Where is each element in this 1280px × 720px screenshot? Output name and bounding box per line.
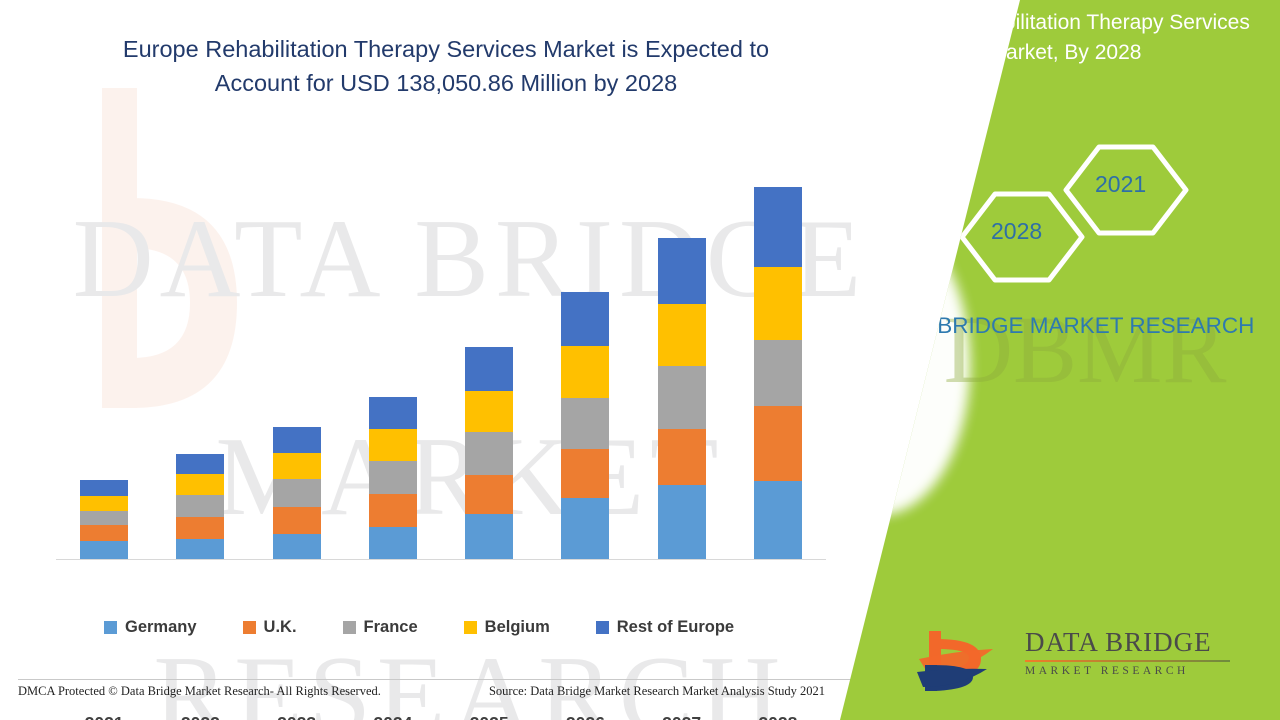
logo-title: DATA BRIDGE — [1025, 627, 1230, 658]
bar-segment-rest-of-europe — [754, 187, 802, 267]
bar-segment-france — [658, 366, 706, 429]
hexagon-2028-label: 2028 — [991, 218, 1042, 245]
bar-column-2023 — [249, 150, 345, 559]
bar-segment-rest-of-europe — [465, 347, 513, 391]
stacked-bar — [176, 454, 224, 559]
bar-column-2028 — [730, 150, 826, 559]
bar-segment-germany — [369, 527, 417, 559]
x-axis-label-2023: 2023 — [249, 713, 345, 720]
footer: DMCA Protected © Data Bridge Market Rese… — [18, 684, 863, 699]
stacked-bar — [465, 347, 513, 559]
legend-swatch-icon — [596, 621, 609, 634]
infographic-canvas: DATA BRIDGE MARKET RESEARCH Europe Rehab… — [0, 0, 1280, 720]
bar-segment-rest-of-europe — [176, 454, 224, 474]
bar-column-2025 — [441, 150, 537, 559]
x-axis-label-2027: 2027 — [634, 713, 730, 720]
bar-segment-belgium — [561, 346, 609, 398]
bar-segment-u-k- — [754, 406, 802, 481]
legend-swatch-icon — [343, 621, 356, 634]
bar-segment-u-k- — [465, 475, 513, 514]
bar-group — [56, 150, 826, 559]
logo-subtitle: MARKET RESEARCH — [1025, 665, 1230, 677]
bar-segment-germany — [80, 541, 128, 559]
bar-column-2021 — [56, 150, 152, 559]
bar-segment-belgium — [80, 496, 128, 511]
bar-segment-germany — [465, 514, 513, 559]
x-axis-label-2022: 2022 — [152, 713, 248, 720]
stacked-bar-chart: 20212022202320242025202620272028 — [56, 150, 826, 560]
bar-segment-germany — [658, 485, 706, 559]
x-axis-label-2025: 2025 — [441, 713, 537, 720]
bar-segment-belgium — [369, 429, 417, 461]
legend-item-u-k-[interactable]: U.K. — [243, 618, 297, 637]
legend-item-france[interactable]: France — [343, 618, 418, 637]
copyright-text: DMCA Protected © Data Bridge Market Rese… — [18, 684, 381, 699]
bar-segment-germany — [176, 539, 224, 559]
logo-mark-icon — [915, 625, 1015, 695]
bar-segment-rest-of-europe — [273, 427, 321, 453]
page-title: Europe Rehabilitation Therapy Services M… — [96, 32, 796, 100]
stacked-bar — [658, 238, 706, 559]
legend-swatch-icon — [243, 621, 256, 634]
side-panel: DBMR Europe Rehabilitation Therapy Servi… — [830, 0, 1280, 720]
stacked-bar — [80, 480, 128, 559]
bar-segment-belgium — [176, 474, 224, 495]
legend-item-rest-of-europe[interactable]: Rest of Europe — [596, 618, 734, 637]
panel-title: Europe Rehabilitation Therapy Services M… — [870, 8, 1260, 69]
chart-legend: GermanyU.K.FranceBelgiumRest of Europe — [104, 618, 804, 637]
stacked-bar — [754, 187, 802, 559]
bar-segment-germany — [561, 498, 609, 559]
legend-swatch-icon — [104, 621, 117, 634]
x-axis-labels: 20212022202320242025202620272028 — [56, 713, 826, 720]
bar-segment-u-k- — [369, 494, 417, 527]
x-axis-label-2021: 2021 — [56, 713, 152, 720]
bar-segment-u-k- — [273, 507, 321, 534]
stacked-bar — [561, 292, 609, 559]
legend-label: Germany — [125, 618, 197, 637]
bar-segment-france — [561, 398, 609, 449]
x-axis-line — [56, 559, 826, 560]
bar-segment-france — [176, 495, 224, 517]
bar-segment-france — [465, 432, 513, 475]
legend-label: Rest of Europe — [617, 618, 734, 637]
bar-segment-belgium — [754, 267, 802, 340]
bar-segment-belgium — [658, 304, 706, 366]
legend-label: U.K. — [264, 618, 297, 637]
bar-segment-rest-of-europe — [561, 292, 609, 346]
bar-segment-u-k- — [561, 449, 609, 498]
legend-swatch-icon — [464, 621, 477, 634]
bar-segment-belgium — [273, 453, 321, 479]
bar-segment-u-k- — [176, 517, 224, 539]
source-text: Source: Data Bridge Market Research Mark… — [489, 684, 825, 699]
x-axis-label-2028: 2028 — [730, 713, 826, 720]
x-axis-label-2026: 2026 — [537, 713, 633, 720]
bar-segment-france — [754, 340, 802, 406]
legend-item-germany[interactable]: Germany — [104, 618, 197, 637]
bar-segment-germany — [754, 481, 802, 559]
company-logo: DATA BRIDGE MARKET RESEARCH — [915, 625, 1245, 697]
bar-segment-belgium — [465, 391, 513, 432]
logo-divider — [1025, 660, 1230, 662]
legend-item-belgium[interactable]: Belgium — [464, 618, 550, 637]
bar-segment-u-k- — [80, 525, 128, 541]
stacked-bar — [273, 427, 321, 559]
bar-segment-rest-of-europe — [658, 238, 706, 304]
footer-divider — [18, 679, 860, 680]
bar-segment-rest-of-europe — [80, 480, 128, 496]
legend-label: France — [364, 618, 418, 637]
hexagon-2021-label: 2021 — [1095, 171, 1146, 198]
legend-label: Belgium — [485, 618, 550, 637]
bar-segment-rest-of-europe — [369, 397, 417, 429]
bar-segment-germany — [273, 534, 321, 559]
bar-segment-france — [80, 511, 128, 525]
hexagon-group: 2021 2028 — [870, 135, 1270, 295]
bar-column-2024 — [345, 150, 441, 559]
bar-column-2022 — [152, 150, 248, 559]
bar-column-2027 — [634, 150, 730, 559]
stacked-bar — [369, 397, 417, 559]
bar-segment-u-k- — [658, 429, 706, 485]
logo-text: DATA BRIDGE MARKET RESEARCH — [1025, 627, 1230, 677]
bar-column-2026 — [537, 150, 633, 559]
x-axis-label-2024: 2024 — [345, 713, 441, 720]
bar-segment-france — [369, 461, 417, 494]
bar-segment-france — [273, 479, 321, 507]
panel-brand-text: DATA BRIDGE MARKET RESEARCH — [860, 310, 1270, 343]
